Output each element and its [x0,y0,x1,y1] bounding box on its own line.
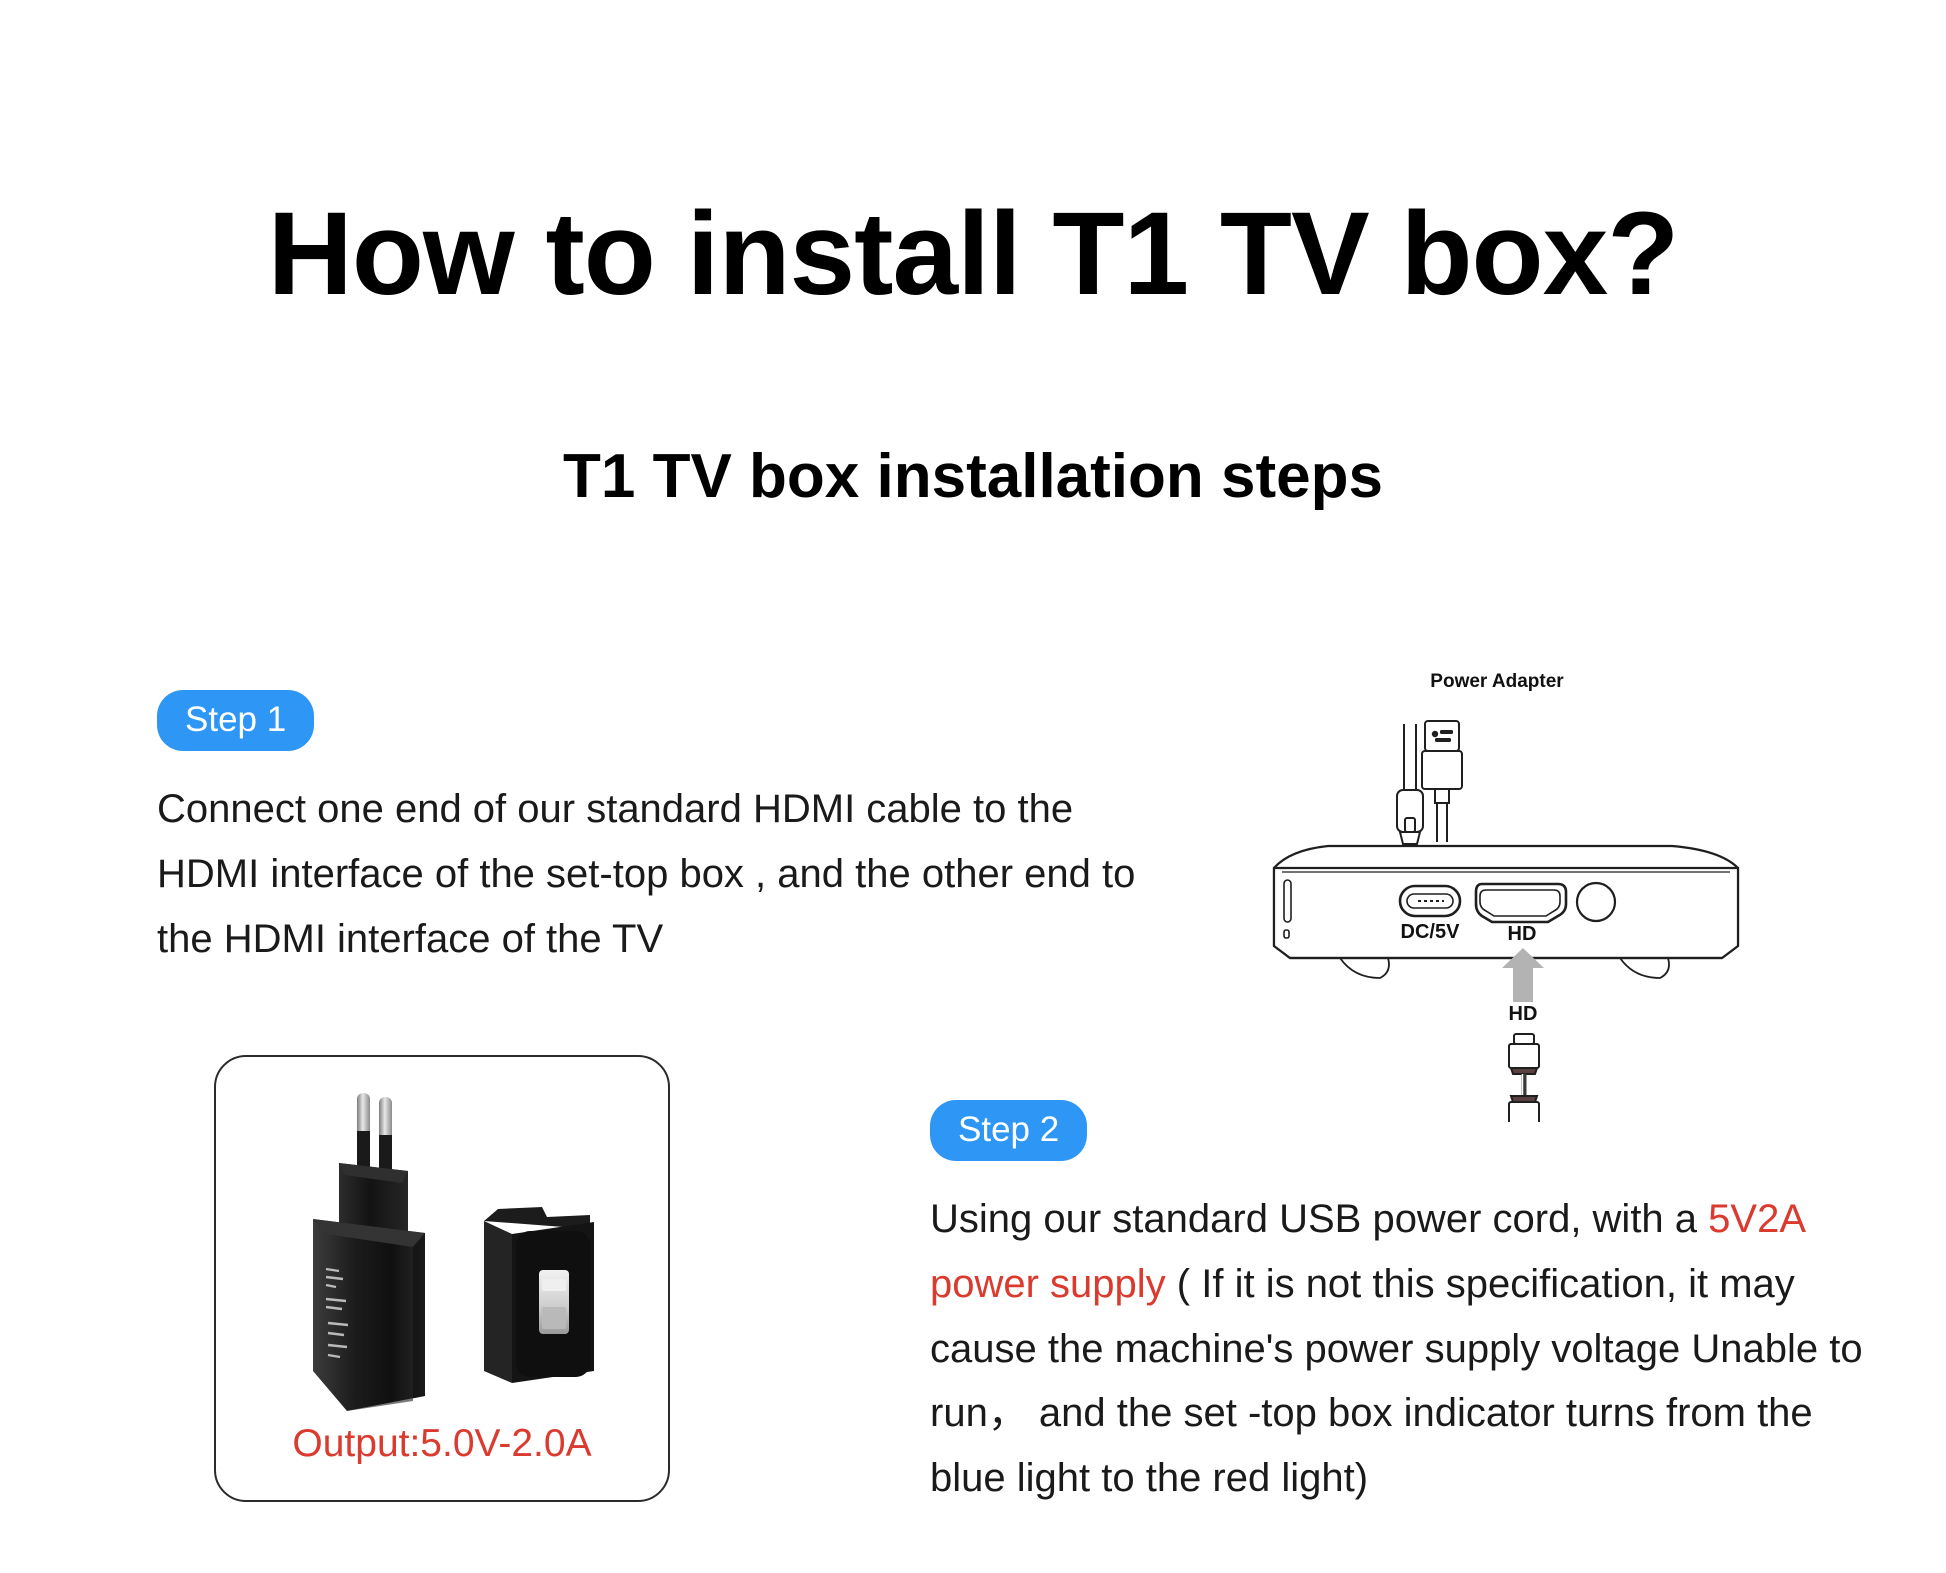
power-adapter-label: Power Adapter [1430,671,1564,692]
adapter-front-view [484,1207,594,1383]
hdmi-port-label: HD [1508,923,1537,945]
hdmi-cable-icon [1509,1034,1539,1122]
adapter-output-caption: Output:5.0V-2.0A [216,1422,668,1466]
usb-power-adapter-image [216,1071,672,1431]
step-1-block: Step 1 Connect one end of our standard H… [157,690,1167,971]
step-2-badge: Step 2 [930,1100,1087,1161]
usb-a-connector-icon [1422,721,1462,842]
hdmi-cable-top-label: HD [1509,1003,1538,1025]
step-2-description: Using our standard USB power cord, with … [930,1187,1880,1511]
tv-box-connection-diagram: Power Adapter [1232,662,1792,1122]
step-2-block: Step 2 Using our standard USB power cord… [930,1100,1880,1511]
step-1-badge: Step 1 [157,690,314,751]
eu-plug-pins [357,1093,392,1177]
power-adapter-panel: Output:5.0V-2.0A [214,1055,670,1502]
page-title: How to install T1 TV box? [0,190,1946,320]
page-subtitle: T1 TV box installation steps [0,440,1946,514]
status-indicator-circle [1577,883,1615,921]
dc-5v-port [1400,886,1460,916]
micro-usb-connector-icon [1397,724,1423,844]
step-2-text-segment-1: Using our standard USB power cord, with … [930,1197,1708,1241]
hdmi-port [1476,884,1566,922]
dc-port-label: DC/5V [1401,921,1461,943]
step-1-description: Connect one end of our standard HDMI cab… [157,777,1167,971]
